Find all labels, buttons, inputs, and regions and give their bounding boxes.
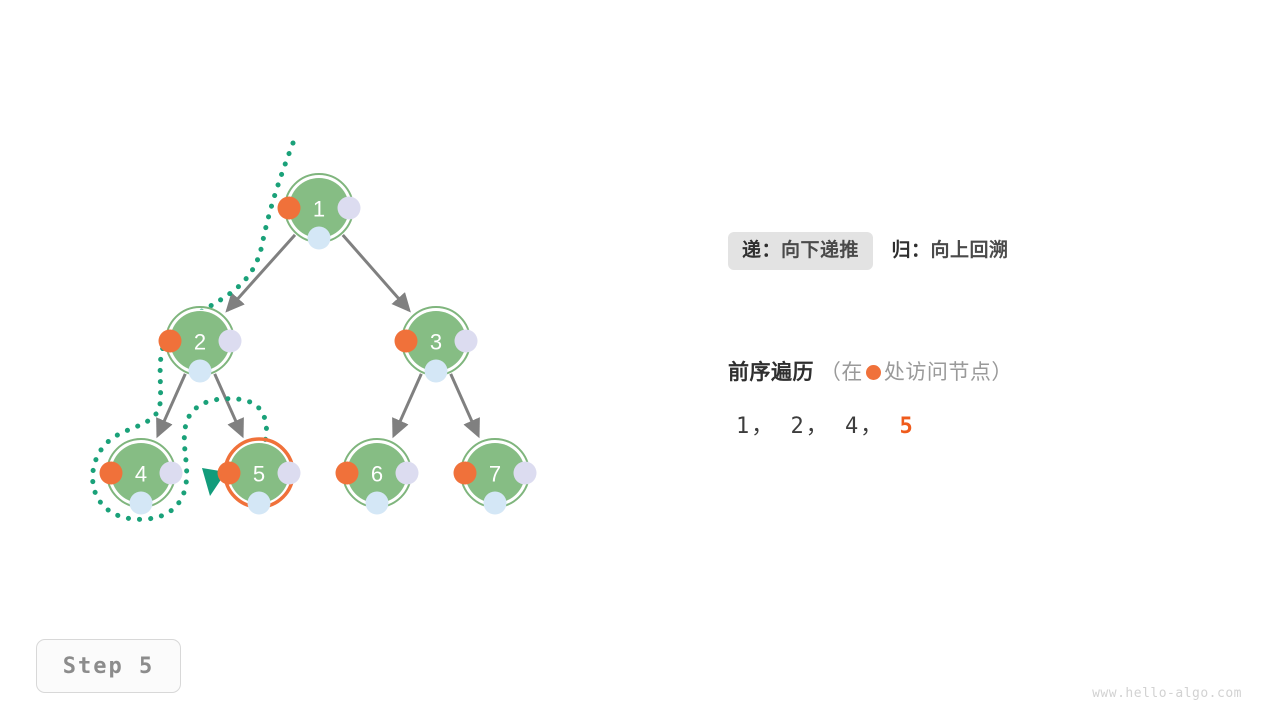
inorder-visit-dot xyxy=(514,462,537,485)
preorder-visit-dot xyxy=(100,462,123,485)
sequence-visited: 1， 2， 4， xyxy=(736,414,884,439)
node-label: 7 xyxy=(489,462,501,487)
legend-panel: 递：向下递推 归：向上回溯 xyxy=(728,228,1228,270)
tree-node-7: 7 xyxy=(454,439,537,515)
traversal-paren-open: （在 xyxy=(820,361,863,384)
preorder-visit-dot xyxy=(454,462,477,485)
node-label: 4 xyxy=(135,462,147,487)
illustration-canvas: 1234567 递：向下递推 归：向上回溯 前序遍历 （在处访问节点） 1， 2… xyxy=(0,0,1280,720)
preorder-visit-dot xyxy=(218,462,241,485)
step-badge-label: Step 5 xyxy=(63,654,154,679)
tree-edge xyxy=(215,374,243,436)
tree-node-1: 1 xyxy=(278,174,361,250)
postorder-visit-dot xyxy=(308,227,331,250)
tree-node-2: 2 xyxy=(159,307,242,383)
preorder-visit-dot xyxy=(395,330,418,353)
step-badge: Step 5 xyxy=(36,639,181,693)
legend-descend-prefix: 递： xyxy=(742,240,781,261)
node-label: 5 xyxy=(253,462,265,487)
legend-backtrack-prefix: 归： xyxy=(891,240,930,261)
sequence-current: 5 xyxy=(899,414,914,439)
node-label: 6 xyxy=(371,462,383,487)
inorder-visit-dot xyxy=(160,462,183,485)
legend-backtrack-text: 向上回溯 xyxy=(931,240,1009,261)
postorder-visit-dot xyxy=(130,492,153,515)
tree-node-6: 6 xyxy=(336,439,419,515)
tree-edge xyxy=(227,235,295,311)
postorder-visit-dot xyxy=(189,360,212,383)
node-label: 1 xyxy=(313,197,325,222)
postorder-visit-dot xyxy=(484,492,507,515)
inorder-visit-dot xyxy=(396,462,419,485)
watermark: www.hello-algo.com xyxy=(1092,686,1242,701)
legend-item-backtrack: 归：向上回溯 xyxy=(877,232,1022,270)
binary-tree-diagram: 1234567 xyxy=(0,0,1280,720)
legend-descend-text: 向下递推 xyxy=(781,240,859,261)
postorder-visit-dot xyxy=(425,360,448,383)
inorder-visit-dot xyxy=(455,330,478,353)
tree-edge xyxy=(451,374,479,436)
tree-edge xyxy=(394,374,422,436)
traversal-title-bold: 前序遍历 xyxy=(728,361,814,384)
traversal-paren-close: 处访问节点） xyxy=(884,361,1013,384)
tree-node-3: 3 xyxy=(395,307,478,383)
node-label: 2 xyxy=(194,330,206,355)
postorder-visit-dot xyxy=(248,492,271,515)
legend-item-descend: 递：向下递推 xyxy=(728,232,873,270)
tree-edge xyxy=(343,235,409,310)
inorder-visit-dot xyxy=(338,197,361,220)
tree-node-5: 5 xyxy=(218,439,301,515)
traversal-title: 前序遍历 （在处访问节点） xyxy=(728,362,1013,383)
preorder-visit-dot xyxy=(278,197,301,220)
inorder-visit-dot xyxy=(278,462,301,485)
tree-node-4: 4 xyxy=(100,439,183,515)
traversal-sequence: 1， 2， 4， 5 xyxy=(736,408,915,440)
inorder-visit-dot xyxy=(219,330,242,353)
tree-nodes: 1234567 xyxy=(100,174,537,515)
node-label: 3 xyxy=(430,330,442,355)
orange-dot-icon xyxy=(866,365,881,380)
preorder-visit-dot xyxy=(159,330,182,353)
postorder-visit-dot xyxy=(366,492,389,515)
preorder-visit-dot xyxy=(336,462,359,485)
